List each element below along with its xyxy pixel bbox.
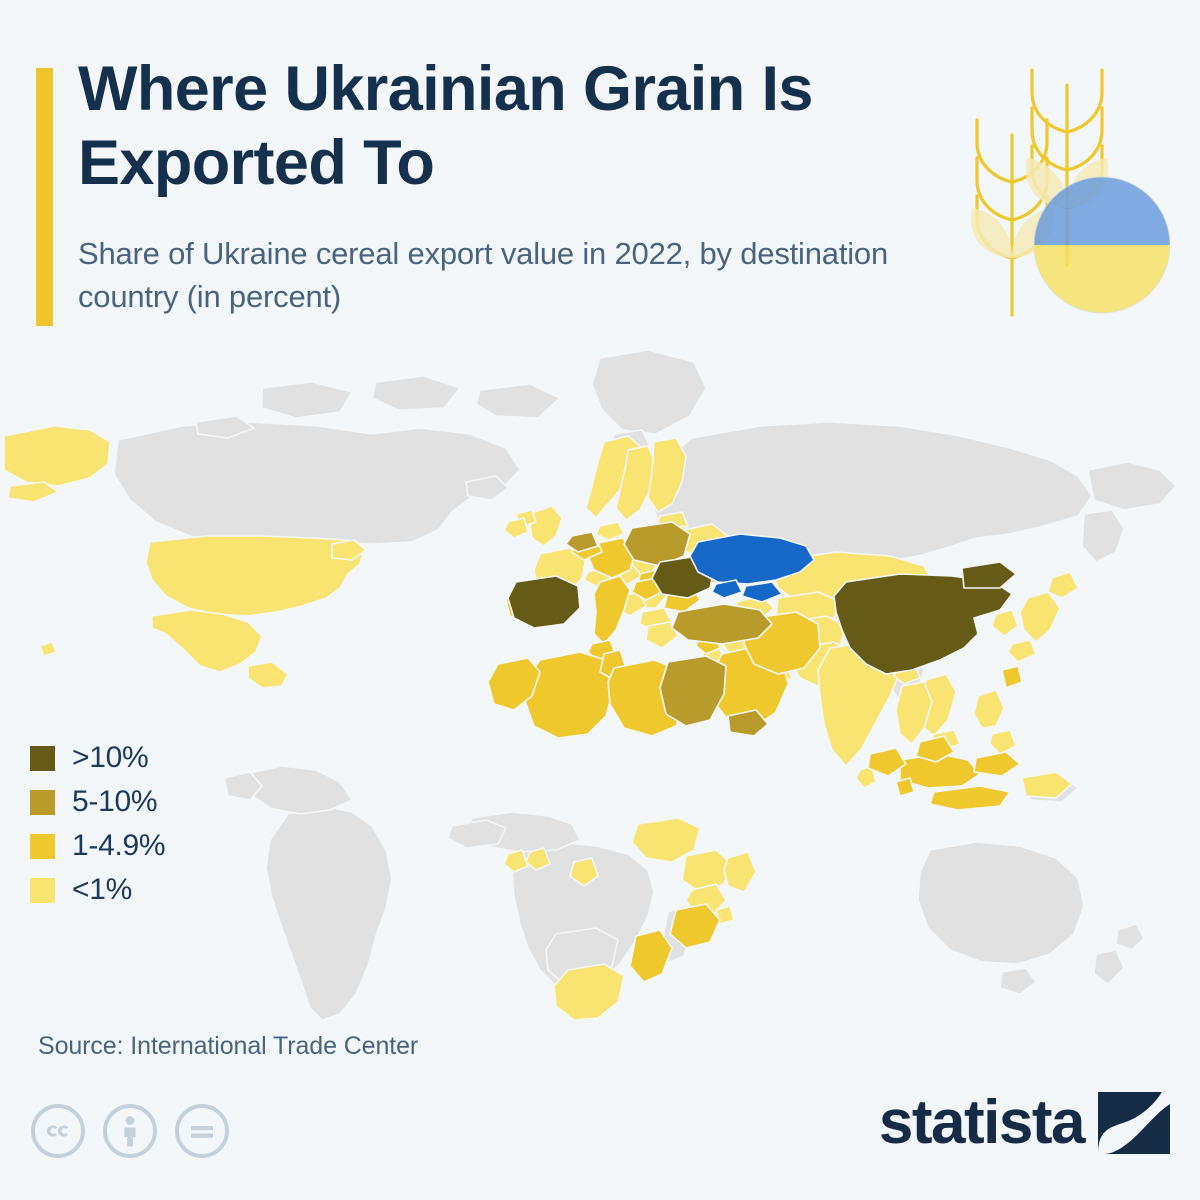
- legend-swatch-5-to-10pct: [30, 790, 55, 815]
- legend-item[interactable]: <1%: [30, 872, 310, 908]
- world-map-svg[interactable]: [0, 330, 1200, 1030]
- page-subtitle: Share of Ukraine cereal export value in …: [78, 232, 918, 318]
- legend-item[interactable]: 1-4.9%: [30, 828, 310, 864]
- cc-icon[interactable]: [30, 1103, 86, 1159]
- cc-nd-equals-icon[interactable]: [174, 1103, 230, 1159]
- cc-by-attribution-icon[interactable]: [102, 1103, 158, 1159]
- world-choropleth-map[interactable]: [0, 330, 1200, 1030]
- legend-swatch-over-10pct: [30, 746, 55, 771]
- yellow-accent-bar: [36, 68, 53, 326]
- map-legend: >10% 5-10% 1-4.9% <1%: [30, 740, 310, 916]
- legend-label-over-10pct: >10%: [72, 743, 148, 773]
- source-note: Source: International Trade Center: [38, 1032, 418, 1061]
- legend-label-under-1pct: <1%: [72, 875, 132, 905]
- legend-swatch-1-to-4-9pct: [30, 834, 55, 859]
- statista-brand[interactable]: statista: [879, 1092, 1170, 1154]
- header: Where Ukrainian Grain Is Exported To Sha…: [0, 0, 1200, 340]
- wheat-stalks-ukraine-flag-icon: [955, 40, 1170, 325]
- creative-commons-license-icons[interactable]: [30, 1103, 230, 1159]
- legend-label-1-to-4-9pct: 1-4.9%: [72, 831, 165, 861]
- legend-label-5-to-10pct: 5-10%: [72, 787, 157, 817]
- infographic-root: Where Ukrainian Grain Is Exported To Sha…: [0, 0, 1200, 1200]
- legend-item[interactable]: >10%: [30, 740, 310, 776]
- legend-swatch-under-1pct: [30, 878, 55, 903]
- page-title: Where Ukrainian Grain Is Exported To: [78, 52, 908, 200]
- legend-item[interactable]: 5-10%: [30, 784, 310, 820]
- statista-logo-mark: [1098, 1092, 1170, 1154]
- statista-wordmark: statista: [879, 1092, 1084, 1154]
